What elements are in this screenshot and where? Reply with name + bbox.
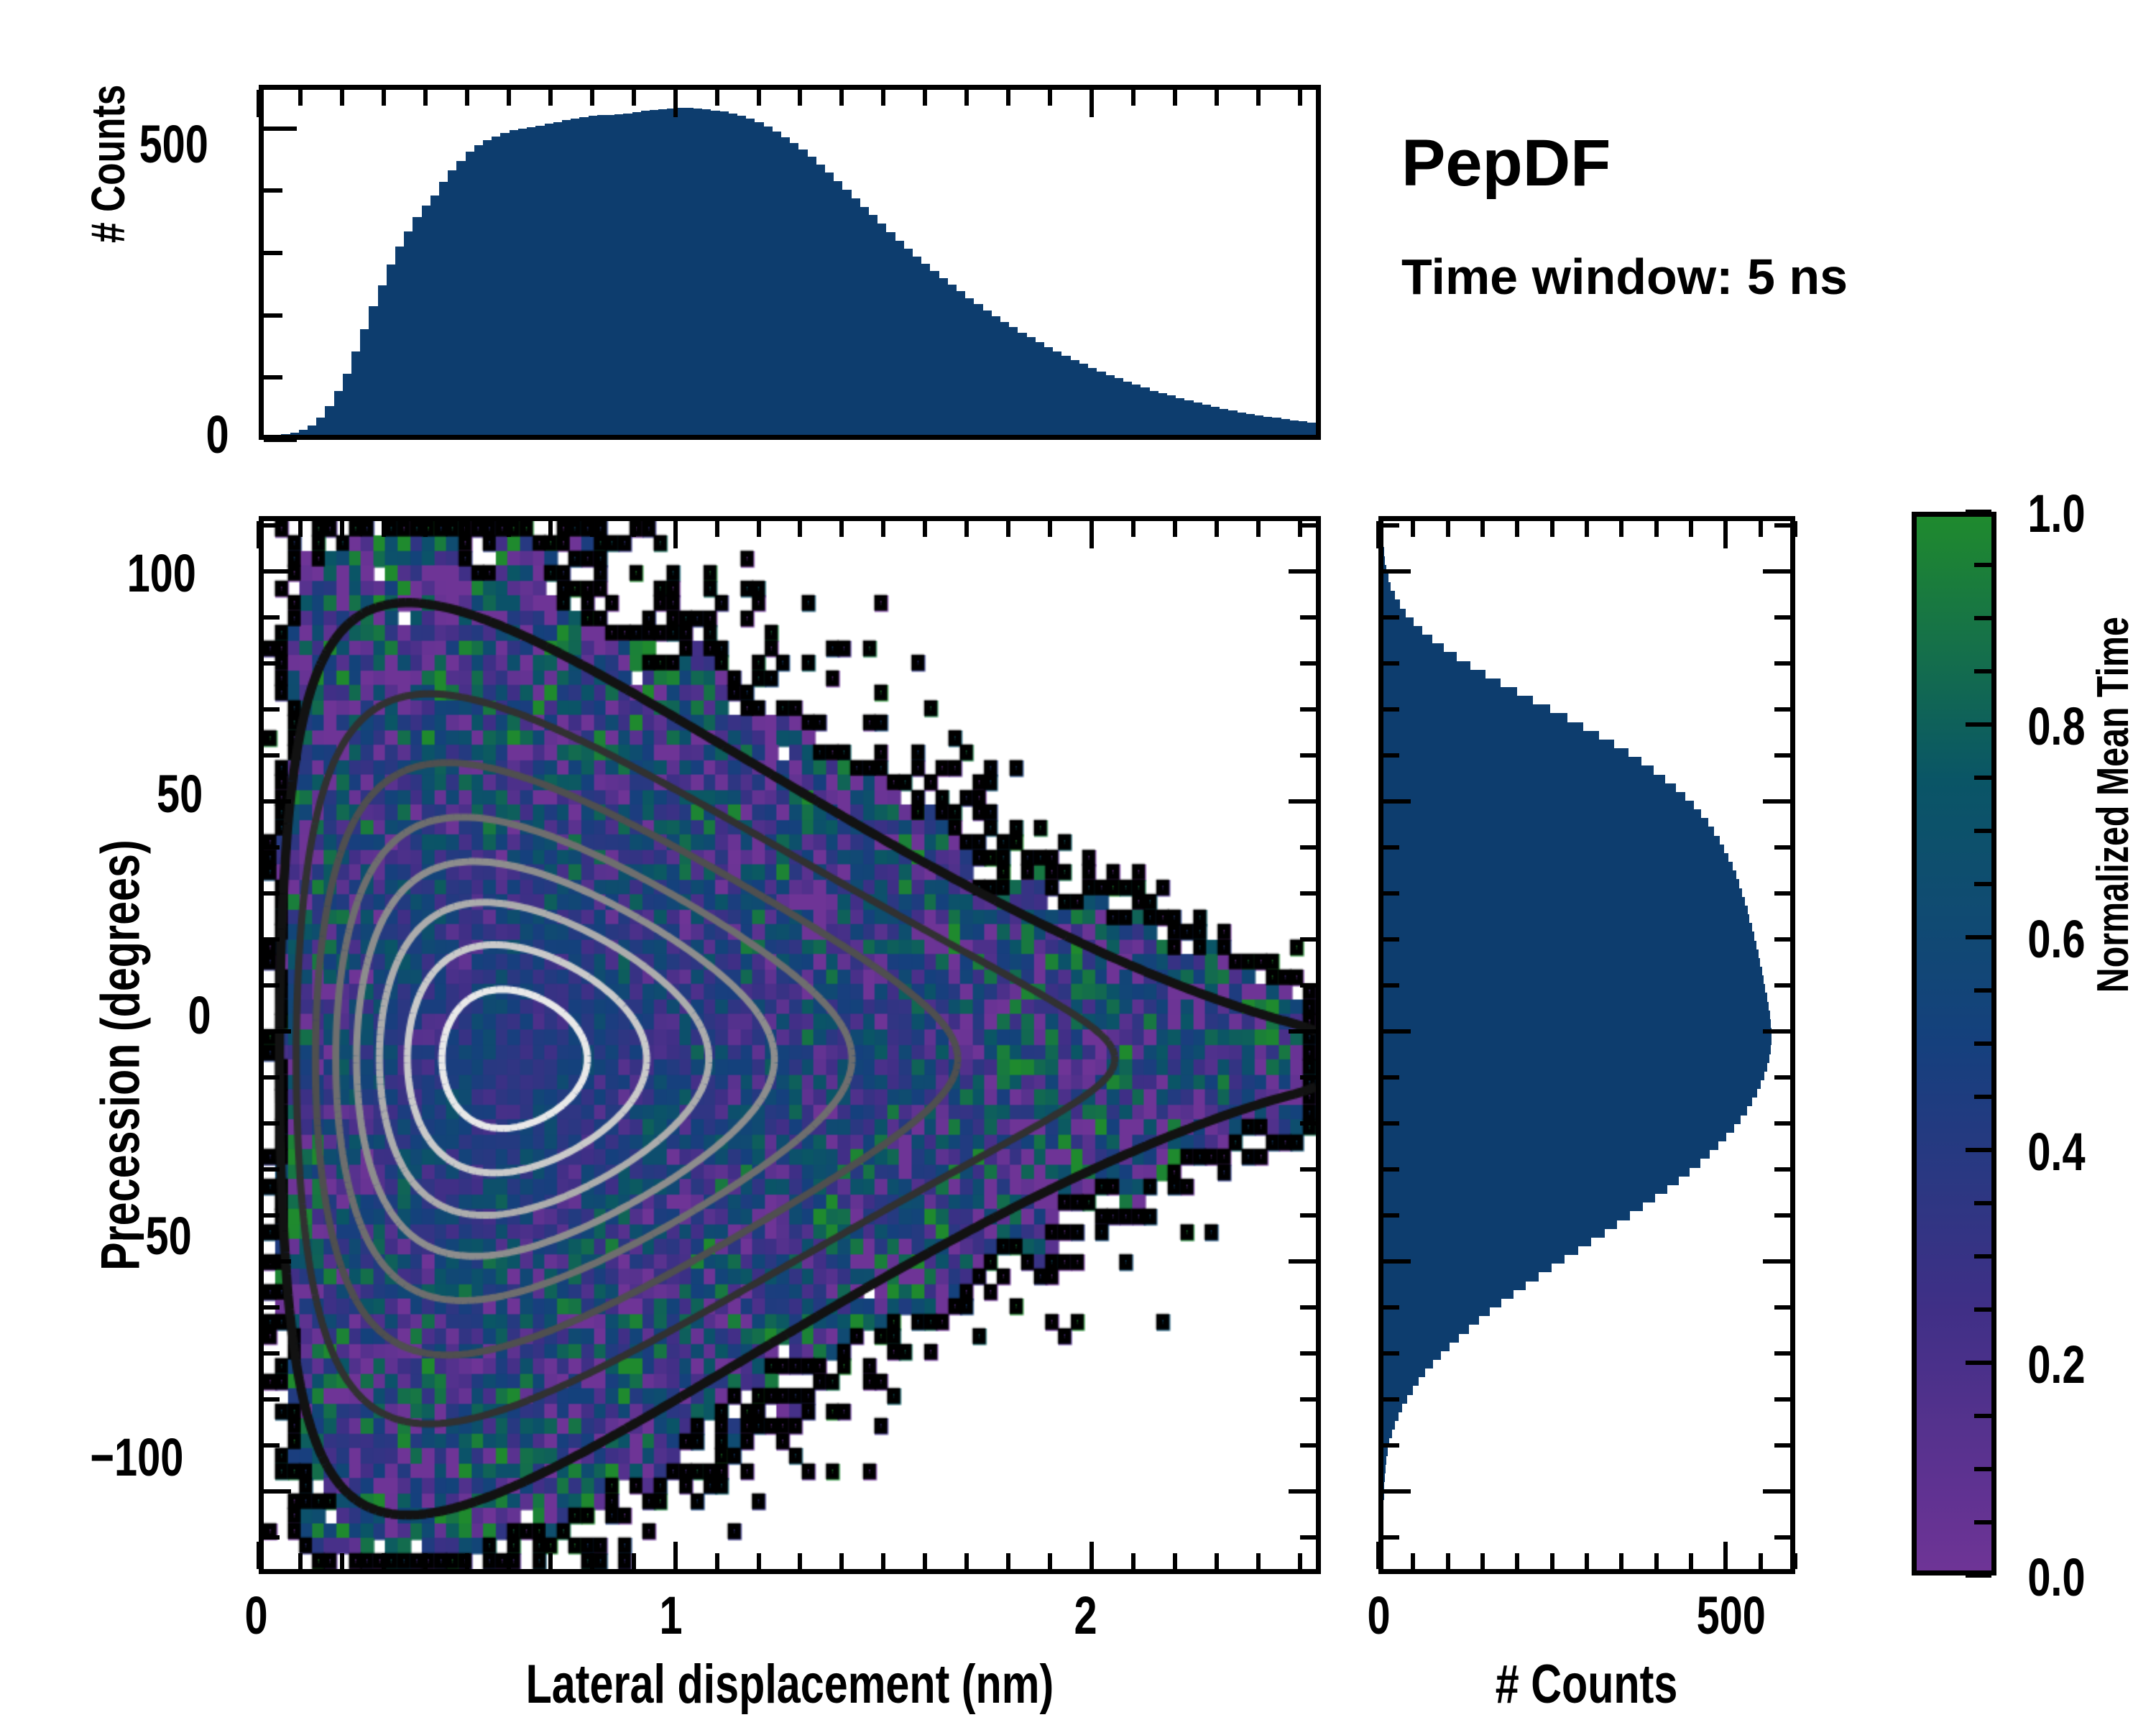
top-histogram-bar [500, 133, 509, 435]
axis-tick [1383, 937, 1399, 942]
figure-canvas: PepDF Time window: 5 ns 500 0 # Counts 1… [0, 0, 2156, 1725]
right-histogram-bar [1383, 818, 1708, 827]
axis-tick [1515, 521, 1519, 537]
axis-tick [881, 90, 885, 106]
axis-tick [382, 1553, 386, 1569]
axis-tick [1383, 891, 1399, 896]
top-histogram-bar [413, 217, 421, 435]
top-histogram-bar [1123, 382, 1132, 435]
axis-tick [798, 1553, 802, 1569]
right-hist-xtick-0: 0 [1364, 1585, 1393, 1646]
axis-tick [590, 521, 594, 537]
axis-tick [1006, 90, 1010, 106]
axis-tick [1974, 988, 1991, 993]
right-histogram-bar [1383, 975, 1764, 984]
axis-tick [1300, 1305, 1316, 1310]
axis-tick [673, 90, 678, 117]
top-histogram-bars [264, 90, 1316, 435]
right-histogram-bar [1383, 1264, 1552, 1272]
axis-tick [923, 90, 927, 106]
axis-tick [1215, 521, 1219, 537]
axis-tick [264, 799, 291, 804]
axis-tick [257, 1542, 261, 1569]
top-histogram-bar [439, 182, 448, 435]
axis-tick [1774, 1213, 1790, 1218]
axis-tick [1763, 1259, 1790, 1264]
axis-tick [1446, 1553, 1450, 1569]
axis-tick [1383, 1029, 1411, 1034]
axis-tick [1256, 521, 1261, 537]
main-xtick-1: 1 [656, 1585, 686, 1646]
axis-tick [465, 90, 469, 106]
axis-tick [264, 661, 280, 666]
axis-tick [1383, 661, 1399, 666]
axis-tick [264, 1213, 280, 1218]
axis-tick [715, 521, 719, 537]
right-histogram-bar [1383, 853, 1728, 862]
right-hist-xlabel: # Counts [1378, 1653, 1795, 1716]
right-histogram-bar [1383, 1115, 1741, 1124]
top-histogram-bar [325, 406, 333, 435]
main-ytick-0: 0 [185, 985, 214, 1046]
top-histogram-bar [334, 391, 343, 435]
top-histogram-bar [1158, 393, 1167, 435]
top-histogram-bar [1115, 378, 1123, 435]
axis-tick [1300, 1351, 1316, 1356]
top-histogram-bar [921, 264, 930, 435]
axis-tick [264, 1305, 280, 1310]
axis-tick [1974, 1041, 1991, 1046]
right-histogram-bar [1383, 1377, 1419, 1386]
top-histogram-bar [676, 108, 685, 435]
axis-tick [1383, 523, 1399, 528]
axis-tick [1215, 1553, 1219, 1569]
axis-tick [1974, 616, 1991, 620]
top-histogram-bar [737, 116, 746, 435]
top-histogram-bar [781, 137, 790, 435]
axis-tick [798, 521, 802, 537]
right-histogram-bar [1383, 941, 1756, 949]
top-histogram-bar [614, 114, 623, 435]
right-histogram-bar [1383, 635, 1432, 643]
axis-tick [1515, 1553, 1519, 1569]
axis-tick [1173, 90, 1177, 106]
right-histogram-bar [1383, 643, 1444, 652]
right-histogram-bar [1383, 652, 1457, 661]
colorbar-tick-00: 0.0 [2019, 1547, 2093, 1608]
top-histogram-bar [1018, 333, 1026, 435]
top-histogram-bar [1106, 375, 1115, 435]
right-histogram-bar [1383, 1272, 1539, 1281]
top-histogram-bar [904, 249, 913, 435]
top-histogram-bar [1132, 385, 1141, 435]
axis-tick [923, 1553, 927, 1569]
top-histogram-bar [808, 157, 816, 435]
axis-tick [1774, 1443, 1790, 1448]
main-ytick-100: 100 [117, 543, 206, 604]
axis-tick [1774, 1351, 1790, 1356]
colorbar-tick-06: 0.6 [2019, 908, 2093, 970]
axis-tick [1300, 937, 1316, 942]
axis-tick [264, 891, 280, 896]
top-histogram-bar [798, 149, 807, 435]
axis-tick [1300, 1535, 1316, 1540]
main-ytick-50: 50 [150, 763, 209, 824]
right-histogram-bar [1383, 556, 1385, 565]
top-histogram-bar [571, 119, 579, 435]
axis-tick [1774, 1121, 1790, 1126]
right-histogram-bar [1383, 792, 1685, 801]
axis-tick [1383, 1167, 1399, 1172]
axis-tick [423, 1553, 428, 1569]
top-histogram-bar [1255, 415, 1263, 435]
top-histogram-bar [895, 241, 904, 435]
top-histogram-bar [1194, 402, 1202, 435]
right-histogram-bar [1383, 1238, 1591, 1246]
right-histogram-bar [1383, 1072, 1764, 1080]
right-histogram-bar [1383, 1360, 1433, 1368]
top-histogram-bar [825, 172, 834, 435]
axis-tick [964, 1553, 969, 1569]
top-histogram-bar [1184, 400, 1193, 435]
axis-tick [1774, 523, 1790, 528]
axis-tick [839, 521, 844, 537]
right-histogram-bar [1383, 1334, 1459, 1343]
right-histogram-bar [1383, 1133, 1726, 1141]
right-histogram-bar [1383, 862, 1733, 870]
axis-tick [1300, 1167, 1316, 1172]
axis-tick [1173, 1553, 1177, 1569]
axis-tick [1619, 521, 1623, 537]
axis-tick [264, 1535, 280, 1540]
top-histogram-bar [422, 206, 430, 435]
axis-tick [1974, 829, 1991, 833]
right-histogram-bar [1383, 1465, 1386, 1473]
top-histogram-bar [562, 120, 571, 435]
axis-tick [1383, 753, 1399, 758]
top-histogram-bar [1061, 356, 1070, 435]
axis-tick [1383, 1121, 1399, 1126]
axis-tick [1689, 521, 1693, 537]
axis-tick [1723, 1542, 1728, 1569]
top-histogram-bar [527, 127, 535, 435]
axis-tick [673, 521, 678, 548]
top-histogram-bar [1307, 423, 1316, 435]
axis-tick [507, 521, 511, 537]
axis-tick [264, 251, 282, 255]
axis-tick [1048, 521, 1052, 537]
axis-tick [264, 1351, 280, 1356]
top-histogram-bar [518, 129, 527, 435]
top-histogram-bar [369, 306, 377, 435]
axis-tick [1006, 521, 1010, 537]
axis-tick [1550, 1553, 1554, 1569]
top-histogram-bar [492, 137, 500, 435]
right-histogram-bar [1383, 1211, 1630, 1220]
top-histogram-bar [1097, 372, 1105, 435]
axis-tick [1300, 1075, 1316, 1080]
axis-tick [1654, 1553, 1659, 1569]
axis-tick [1966, 1148, 1991, 1152]
axis-tick [1689, 1553, 1693, 1569]
axis-tick [632, 521, 636, 537]
right-histogram-bar [1383, 1282, 1526, 1290]
top-histogram-bar [965, 298, 974, 435]
top-histogram-bar [553, 122, 562, 435]
top-histogram-bar [886, 232, 895, 435]
axis-tick [1411, 521, 1415, 537]
top-histogram-bar [1238, 413, 1246, 435]
top-histogram-bar [1088, 368, 1097, 435]
main-ylabel: Precession (degrees) [90, 675, 152, 1437]
right-histogram-bar [1383, 984, 1765, 993]
axis-tick [1298, 1553, 1302, 1569]
axis-tick [1411, 1553, 1415, 1569]
right-histogram-bar [1383, 783, 1676, 792]
axis-tick [1383, 1213, 1399, 1218]
axis-tick [548, 90, 553, 106]
top-histogram-bar [456, 161, 465, 435]
axis-tick [590, 1553, 594, 1569]
axis-tick [1383, 1535, 1399, 1540]
right-histogram-bar [1383, 1194, 1655, 1202]
axis-tick [340, 1553, 344, 1569]
top-histogram-bar [466, 152, 474, 435]
right-histogram-bar [1383, 897, 1745, 906]
axis-tick [1131, 521, 1135, 537]
right-histogram-bar [1383, 1011, 1770, 1019]
top-histogram-bar [641, 111, 650, 435]
axis-tick [1974, 882, 1991, 886]
axis-tick [1774, 1305, 1790, 1310]
axis-tick [757, 1553, 761, 1569]
top-histogram-bar [1167, 395, 1176, 435]
axis-tick [1300, 707, 1316, 712]
axis-tick [1383, 1259, 1411, 1264]
top-histogram-bar [1228, 410, 1237, 435]
right-histogram-bar [1383, 845, 1724, 853]
axis-tick [1256, 1553, 1261, 1569]
right-histogram-bar [1383, 1343, 1450, 1351]
axis-tick [257, 521, 261, 548]
top-histogram-bar [430, 195, 439, 435]
top-hist-ylabel: # Counts [80, 49, 135, 279]
top-histogram-bar [597, 115, 606, 435]
axis-tick [264, 126, 297, 131]
axis-tick [1383, 615, 1399, 620]
axis-tick [1300, 1443, 1316, 1448]
axis-tick [1256, 90, 1261, 106]
top-histogram-bar [974, 304, 982, 435]
top-histogram-bar [1141, 387, 1149, 435]
axis-tick [423, 90, 428, 106]
axis-tick [264, 1259, 291, 1264]
axis-tick [1300, 1121, 1316, 1126]
axis-tick [1300, 661, 1316, 666]
axis-tick [1383, 1075, 1399, 1080]
top-histogram-bar [535, 126, 544, 435]
axis-tick [1966, 510, 1991, 514]
axis-tick [1585, 1553, 1589, 1569]
top-histogram-bar [790, 143, 798, 435]
axis-tick [1974, 1095, 1991, 1099]
right-histogram-bar [1383, 678, 1501, 687]
right-hist-xtick-500: 500 [1687, 1585, 1775, 1646]
axis-tick [548, 521, 553, 537]
top-histogram-bar [992, 316, 1000, 435]
top-histogram-bar [842, 190, 851, 435]
top-histogram-bar [545, 124, 553, 435]
top-histogram-bar [308, 425, 316, 435]
colorbar-tick-1: 1.0 [2019, 483, 2093, 544]
axis-tick [1774, 1535, 1790, 1540]
axis-tick [264, 615, 280, 620]
right-histogram-bar [1383, 1054, 1769, 1063]
top-histogram-bar [860, 207, 869, 435]
axis-tick [1619, 1553, 1623, 1569]
axis-tick [264, 1489, 291, 1494]
top-histogram-bar [948, 285, 957, 435]
top-histogram-bar [773, 132, 781, 435]
axis-tick [1966, 722, 1991, 727]
axis-tick [548, 1553, 553, 1569]
axis-tick [1383, 799, 1411, 804]
top-histogram-bar [1176, 398, 1184, 435]
top-histogram-bar [483, 140, 492, 435]
top-histogram-bar [957, 291, 965, 435]
right-histogram-bar [1383, 1412, 1399, 1421]
right-histogram-bar [1383, 1098, 1752, 1106]
axis-tick [673, 1542, 678, 1569]
top-histogram-bar [360, 329, 369, 435]
axis-tick [264, 313, 282, 318]
axis-tick [1383, 845, 1399, 850]
right-histogram-bar [1383, 1368, 1425, 1377]
axis-tick [1974, 1467, 1991, 1471]
top-histogram-bar [1027, 337, 1036, 435]
axis-tick [1585, 521, 1589, 537]
axis-tick [1550, 521, 1554, 537]
axis-tick [264, 375, 282, 379]
top-histogram-bar [930, 271, 939, 435]
axis-tick [757, 521, 761, 537]
axis-tick [964, 521, 969, 537]
axis-tick [590, 90, 594, 106]
right-histogram-bar [1383, 914, 1749, 923]
axis-tick [1774, 1167, 1790, 1172]
top-histogram-bar [694, 109, 702, 435]
right-histogram-bar [1383, 765, 1654, 774]
top-histogram-bar [816, 165, 825, 435]
right-histogram-bar [1383, 748, 1628, 757]
axis-tick [264, 1397, 280, 1402]
right-histogram-bar [1383, 1036, 1772, 1045]
axis-tick [264, 523, 280, 528]
top-histogram-bar [404, 231, 413, 435]
top-marginal-histogram-panel [259, 85, 1321, 440]
axis-tick [1974, 1307, 1991, 1312]
axis-tick [264, 1075, 280, 1080]
figure-subtitle: Time window: 5 ns [1401, 248, 1848, 305]
axis-tick [264, 937, 280, 942]
right-histogram-bar [1383, 757, 1641, 765]
top-histogram-bar [869, 215, 877, 435]
right-histogram-bar [1383, 1159, 1700, 1167]
right-histogram-bar [1383, 958, 1760, 967]
right-histogram-bar [1383, 696, 1533, 704]
top-hist-ytick-500: 500 [129, 114, 218, 175]
top-histogram-bar [299, 430, 308, 435]
right-histogram-bar [1383, 582, 1391, 591]
right-histogram-bar [1383, 1404, 1402, 1412]
right-histogram-bar [1383, 1028, 1772, 1036]
top-histogram-bar [729, 114, 737, 435]
top-histogram-bar [983, 310, 992, 435]
right-histogram-bar [1383, 931, 1754, 940]
axis-tick [1383, 1443, 1399, 1448]
axis-tick [1759, 1553, 1763, 1569]
colorbar-label: Normalized Mean Time [2088, 563, 2139, 1046]
right-histogram-bar [1383, 906, 1748, 914]
axis-tick [264, 1121, 280, 1126]
axis-tick [298, 521, 303, 537]
right-histogram-bar [1383, 949, 1759, 958]
axis-tick [1215, 90, 1219, 106]
axis-tick [1974, 669, 1991, 673]
axis-tick [1173, 521, 1177, 537]
top-histogram-bar [1053, 351, 1061, 435]
axis-tick [715, 1553, 719, 1569]
axis-tick [1300, 891, 1316, 896]
axis-tick [264, 1029, 291, 1034]
top-histogram-bar [606, 115, 614, 435]
right-histogram-bar [1383, 1063, 1767, 1072]
axis-tick [1774, 661, 1790, 666]
top-histogram-bar [474, 145, 483, 435]
axis-tick [923, 521, 927, 537]
right-histogram-bar [1383, 1220, 1617, 1229]
axis-tick [382, 90, 386, 106]
axis-tick [632, 1553, 636, 1569]
axis-tick [465, 1553, 469, 1569]
top-histogram-bar [1036, 342, 1044, 435]
right-histogram-bar [1383, 1299, 1501, 1307]
axis-tick [1966, 935, 1991, 939]
axis-tick [1793, 521, 1797, 537]
axis-tick [1974, 776, 1991, 780]
axis-tick [1298, 90, 1302, 106]
axis-tick [964, 90, 969, 106]
axis-tick [1723, 521, 1728, 548]
right-histogram-bar [1383, 591, 1395, 599]
top-histogram-bar [852, 198, 860, 435]
axis-tick [1383, 1305, 1399, 1310]
top-histogram-bar [711, 111, 719, 435]
right-histogram-bar [1383, 1290, 1514, 1299]
axis-tick [423, 521, 428, 537]
right-histogram-bar [1383, 1473, 1385, 1482]
axis-tick [1774, 1075, 1790, 1080]
right-histogram-bar [1383, 1421, 1395, 1430]
right-histogram-bar [1383, 1150, 1710, 1159]
right-histogram-bar [1383, 1124, 1734, 1133]
main-xlabel: Lateral displacement (nm) [259, 1653, 1321, 1716]
axis-tick [264, 569, 291, 574]
right-histogram-bars [1383, 521, 1790, 1569]
right-histogram-bar [1383, 1325, 1469, 1333]
axis-tick [1300, 753, 1316, 758]
axis-tick [1763, 569, 1790, 574]
